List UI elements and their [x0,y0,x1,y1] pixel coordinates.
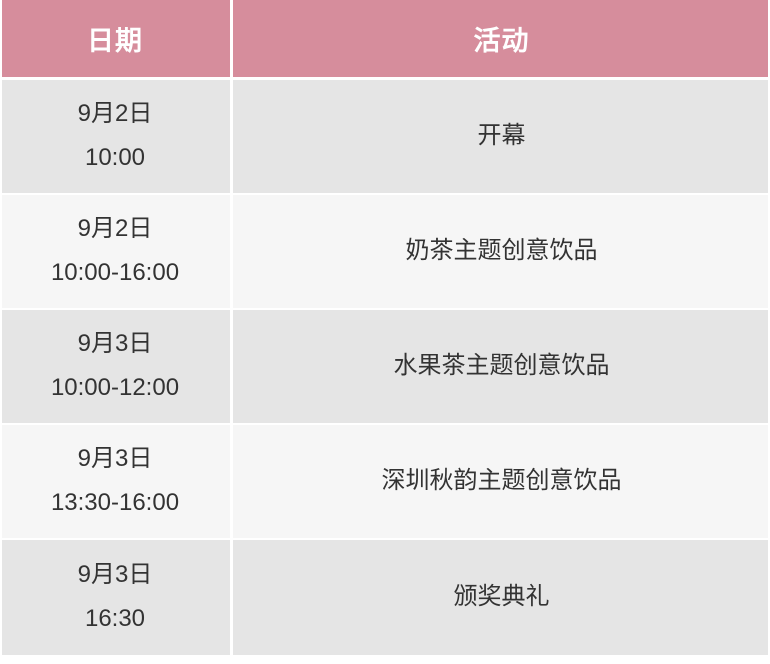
date-cell-content: 9月3日 16:30 [0,540,230,655]
date-day: 9月3日 [78,558,153,593]
table-row: 9月2日 10:00 开幕 [0,80,770,195]
cell-event: 水果茶主题创意饮品 [233,310,770,425]
event-cell-content: 颁奖典礼 [233,540,770,655]
table-row: 9月3日 16:30 颁奖典礼 [0,540,770,655]
event-name: 开幕 [478,119,526,154]
date-cell-content: 9月3日 13:30-16:00 [0,425,230,538]
table-body: 9月2日 10:00 开幕 9月2日 10:00-16:00 奶茶主题创意饮品 [0,80,770,655]
cell-date: 9月3日 10:00-12:00 [0,310,233,425]
event-name: 奶茶主题创意饮品 [406,234,598,269]
cell-event: 开幕 [233,80,770,195]
table-row: 9月3日 13:30-16:00 深圳秋韵主题创意饮品 [0,425,770,540]
date-cell-content: 9月2日 10:00 [0,80,230,193]
header-row: 日期 活动 [0,0,770,80]
event-schedule-table: 日期 活动 9月2日 10:00 开幕 9月2日 10:00-16:0 [0,0,770,655]
column-header-event: 活动 [233,0,770,80]
date-time: 16:30 [85,602,145,637]
event-cell-content: 深圳秋韵主题创意饮品 [233,425,770,538]
table-row: 9月2日 10:00-16:00 奶茶主题创意饮品 [0,195,770,310]
date-time: 10:00-12:00 [51,371,179,406]
cell-date: 9月2日 10:00-16:00 [0,195,233,310]
cell-event: 奶茶主题创意饮品 [233,195,770,310]
event-cell-content: 开幕 [233,80,770,193]
event-name: 颁奖典礼 [454,580,550,615]
event-name: 水果茶主题创意饮品 [394,349,610,384]
date-day: 9月3日 [78,327,153,362]
date-time: 10:00 [85,141,145,176]
cell-date: 9月3日 13:30-16:00 [0,425,233,540]
date-time: 10:00-16:00 [51,256,179,291]
table-row: 9月3日 10:00-12:00 水果茶主题创意饮品 [0,310,770,425]
cell-date: 9月2日 10:00 [0,80,233,195]
date-day: 9月2日 [78,212,153,247]
date-day: 9月3日 [78,442,153,477]
column-header-date: 日期 [0,0,233,80]
event-cell-content: 水果茶主题创意饮品 [233,310,770,423]
event-cell-content: 奶茶主题创意饮品 [233,195,770,308]
date-time: 13:30-16:00 [51,486,179,521]
cell-event: 颁奖典礼 [233,540,770,655]
cell-event: 深圳秋韵主题创意饮品 [233,425,770,540]
table-header: 日期 活动 [0,0,770,80]
date-cell-content: 9月3日 10:00-12:00 [0,310,230,423]
page-edge-left [0,0,2,664]
event-name: 深圳秋韵主题创意饮品 [382,464,622,499]
date-day: 9月2日 [78,97,153,132]
date-cell-content: 9月2日 10:00-16:00 [0,195,230,308]
cell-date: 9月3日 16:30 [0,540,233,655]
